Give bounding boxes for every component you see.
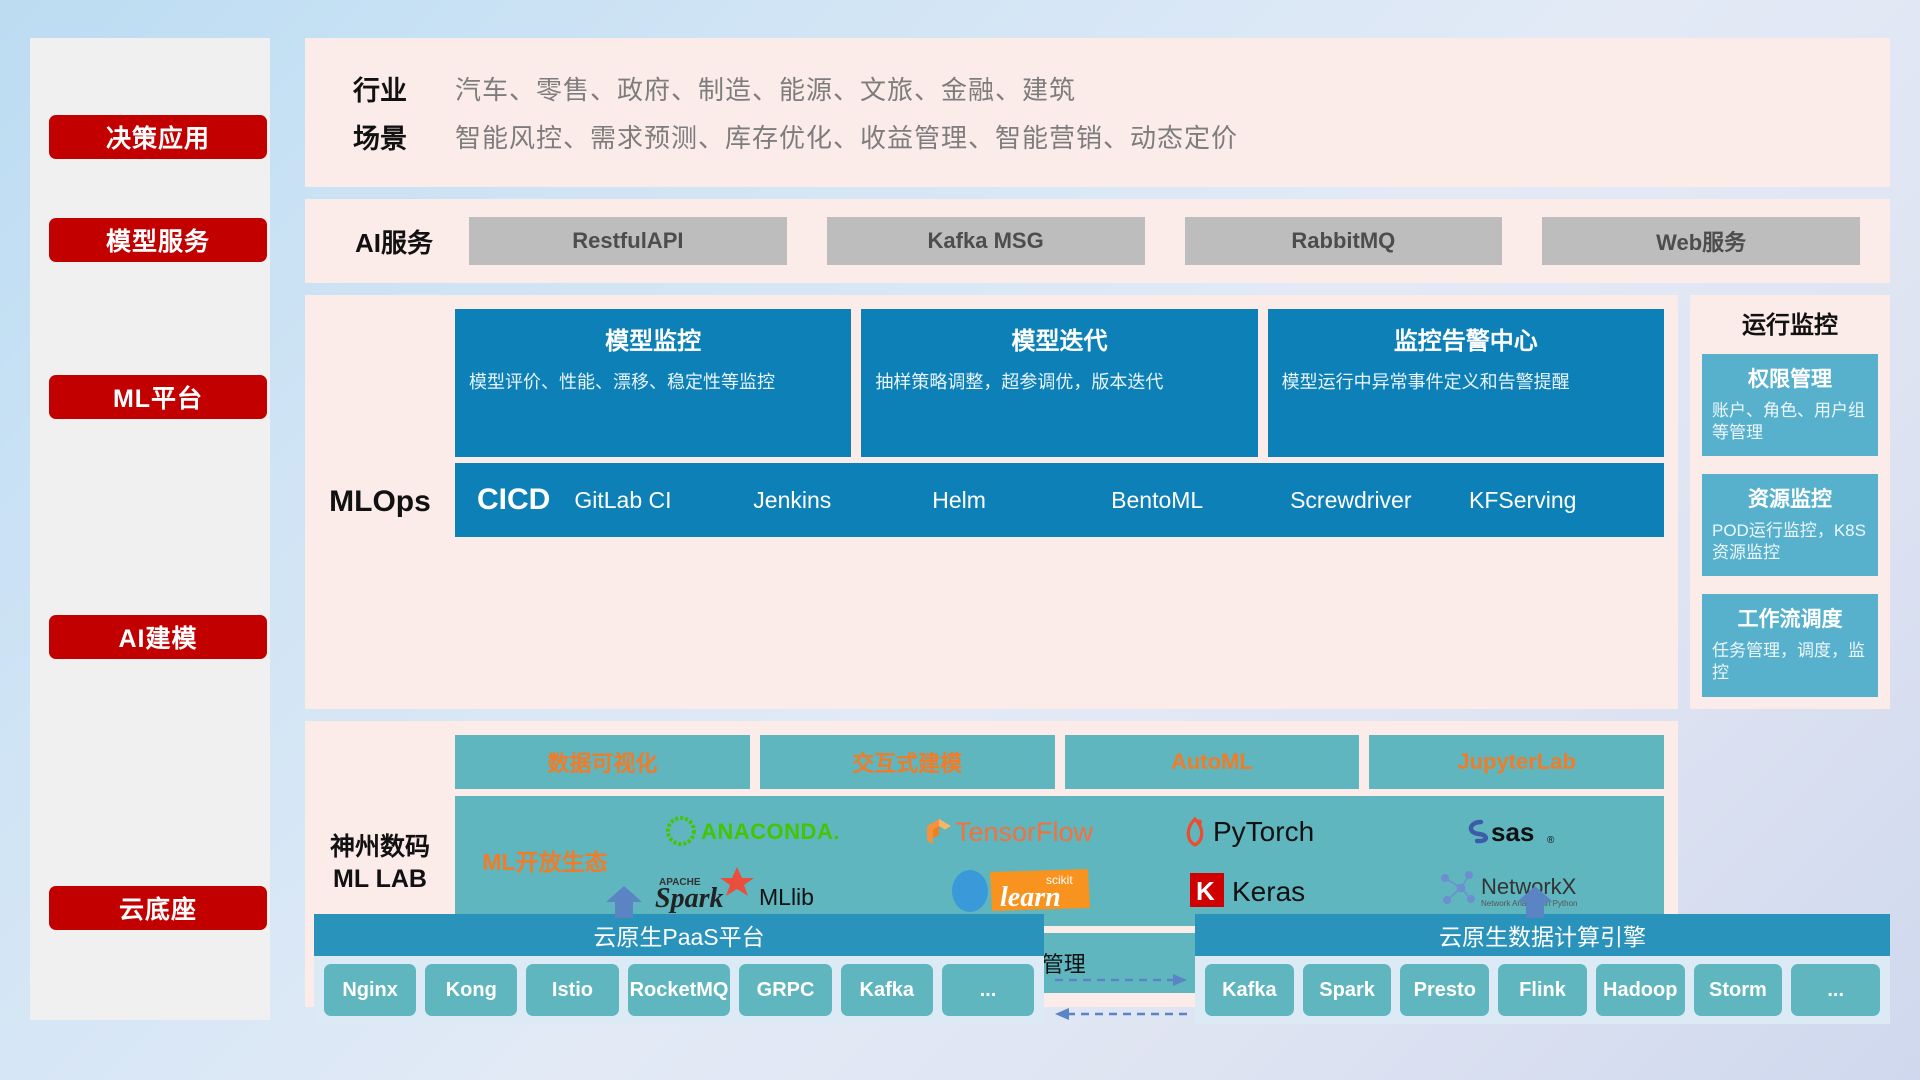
svg-text:sas: sas [1491,817,1534,847]
chip-kong[interactable]: Kong [425,964,517,1016]
cicd-title: CICD [477,483,568,517]
tensorflow-logo-icon: TensorFlow [892,804,1149,858]
mlops-card-model-iteration[interactable]: 模型迭代 抽样策略调整，超参调优，版本迭代 [861,309,1257,457]
tool-row: 数据可视化 交互式建模 AutoML JupyterLab [455,735,1664,789]
card-desc: 模型运行中异常事件定义和告警提醒 [1282,370,1650,394]
ai-service-boxes: RestfulAPI Kafka MSG RabbitMQ Web服务 [469,217,1876,265]
mlops-card-list: 模型监控 模型评价、性能、漂移、稳定性等监控 模型迭代 抽样策略调整，超参调优，… [455,309,1664,457]
compute-engine-title: 云原生数据计算引擎 [1195,914,1890,956]
chip-hadoop[interactable]: Hadoop [1596,964,1685,1016]
ai-service-band: AI服务 RestfulAPI Kafka MSG RabbitMQ Web服务 [305,199,1890,283]
mlops-panel: MLOps 模型监控 模型评价、性能、漂移、稳定性等监控 模型迭代 抽样策略调整… [305,295,1678,709]
card-desc: 账户、角色、用户组等管理 [1712,400,1868,444]
chip-grpc[interactable]: GRPC [739,964,831,1016]
industry-values: 汽车、零售、政府、制造、能源、文旅、金融、建筑 [455,70,1076,107]
tool-interactive-modeling[interactable]: 交互式建模 [760,735,1055,789]
chip-spark[interactable]: Spark [1303,964,1392,1016]
mlops-card-model-monitoring[interactable]: 模型监控 模型评价、性能、漂移、稳定性等监控 [455,309,851,457]
chip-kafka[interactable]: Kafka [841,964,933,1016]
svg-text:PyTorch: PyTorch [1213,816,1314,847]
card-title: 模型迭代 [875,321,1243,356]
chip-flink[interactable]: Flink [1498,964,1587,1016]
paas-title: 云原生PaaS平台 [314,914,1044,956]
scenario-values: 智能风控、需求预测、库存优化、收益管理、智能营销、动态定价 [455,118,1238,155]
compute-chip-list: Kafka Spark Presto Flink Hadoop Storm ..… [1195,956,1890,1024]
decision-application-band: 行业 汽车、零售、政府、制造、能源、文旅、金融、建筑 场景 智能风控、需求预测、… [305,38,1890,187]
tool-data-visualization[interactable]: 数据可视化 [455,735,750,789]
tool-jupyterlab[interactable]: JupyterLab [1369,735,1664,789]
compute-engine-group: 云原生数据计算引擎 Kafka Spark Presto Flink Hadoo… [1195,914,1890,1024]
run-monitor-panel: 运行监控 权限管理 账户、角色、用户组等管理 资源监控 POD运行监控，K8S资… [1690,295,1890,709]
cloud-base-section: 云原生PaaS平台 Nginx Kong Istio RocketMQ GRPC… [305,886,1890,1051]
card-title: 权限管理 [1712,363,1868,393]
svg-text:TensorFlow: TensorFlow [955,817,1094,847]
chip-more-paas[interactable]: ... [942,964,1034,1016]
chip-storm[interactable]: Storm [1694,964,1783,1016]
industry-label: 行业 [305,69,455,108]
stage-chip-ai-modeling[interactable]: AI建模 [49,615,267,659]
run-monitor-title: 运行监控 [1702,305,1878,340]
card-desc: 抽样策略调整，超参调优，版本迭代 [875,370,1243,394]
pytorch-logo-icon: PyTorch [1150,804,1407,858]
stage-chip-cloud-base[interactable]: 云底座 [49,886,267,930]
svg-text:®: ® [1547,835,1555,846]
card-title: 工作流调度 [1712,603,1868,633]
card-desc: POD运行监控，K8S资源监控 [1712,520,1868,564]
scenario-label: 场景 [305,117,455,156]
stage-chip-model-service[interactable]: 模型服务 [49,218,267,262]
cicd-item-helm[interactable]: Helm [932,488,1105,512]
tool-automl[interactable]: AutoML [1065,735,1360,789]
chip-more-compute[interactable]: ... [1791,964,1880,1016]
cicd-item-bentoml[interactable]: BentoML [1111,488,1284,512]
service-box-rabbitmq[interactable]: RabbitMQ [1185,217,1503,265]
industry-row: 行业 汽车、零售、政府、制造、能源、文旅、金融、建筑 [305,69,1890,108]
service-box-kafka-msg[interactable]: Kafka MSG [827,217,1145,265]
up-arrow-icon-paas [602,886,646,918]
card-title: 监控告警中心 [1282,321,1650,356]
service-box-restfulapi[interactable]: RestfulAPI [469,217,787,265]
chip-rocketmq[interactable]: RocketMQ [628,964,731,1016]
card-desc: 模型评价、性能、漂移、稳定性等监控 [469,370,837,394]
cicd-item-kfserving[interactable]: KFServing [1469,488,1642,512]
chip-presto[interactable]: Presto [1400,964,1489,1016]
ml-lab-label-line1: 神州数码 [330,833,430,861]
card-desc: 任务管理，调度，监控 [1712,640,1868,684]
stage-chip-ml-platform[interactable]: ML平台 [49,375,267,419]
stage-chip-decision[interactable]: 决策应用 [49,115,267,159]
anaconda-logo-icon: ANACONDA. [635,804,892,858]
ai-service-label: AI服务 [319,223,469,260]
service-box-web[interactable]: Web服务 [1542,217,1860,265]
monitor-card-resource[interactable]: 资源监控 POD运行监控，K8S资源监控 [1702,474,1878,576]
scenario-row: 场景 智能风控、需求预测、库存优化、收益管理、智能营销、动态定价 [305,117,1890,156]
content-column: 行业 汽车、零售、政府、制造、能源、文旅、金融、建筑 场景 智能风控、需求预测、… [305,38,1890,1007]
chip-istio[interactable]: Istio [526,964,618,1016]
bidirectional-connector-icon [1053,966,1189,1026]
cicd-bar: CICD GitLab CI Jenkins Helm BentoML Scre… [455,463,1664,537]
paas-chip-list: Nginx Kong Istio RocketMQ GRPC Kafka ... [314,956,1044,1024]
mlops-card-alert-center[interactable]: 监控告警中心 模型运行中异常事件定义和告警提醒 [1268,309,1664,457]
cicd-item-jenkins[interactable]: Jenkins [753,488,926,512]
up-arrow-icon-compute [1513,886,1557,918]
ml-platform-band: MLOps 模型监控 模型评价、性能、漂移、稳定性等监控 模型迭代 抽样策略调整… [305,295,1890,709]
architecture-diagram: 决策应用 模型服务 ML平台 AI建模 云底座 行业 汽车、零售、政府、制造、能… [0,0,1920,1080]
stage-rail: 决策应用 模型服务 ML平台 AI建模 云底座 [30,38,270,1020]
monitor-card-permission[interactable]: 权限管理 账户、角色、用户组等管理 [1702,354,1878,456]
paas-group: 云原生PaaS平台 Nginx Kong Istio RocketMQ GRPC… [314,914,1044,1024]
card-title: 资源监控 [1712,483,1868,513]
cicd-item-screwdriver[interactable]: Screwdriver [1290,488,1463,512]
card-title: 模型监控 [469,321,837,356]
mlops-label: MLOps [305,309,455,695]
sas-logo-icon: sas ® [1407,804,1664,858]
chip-nginx[interactable]: Nginx [324,964,416,1016]
svg-text:ANACONDA.: ANACONDA. [701,819,840,844]
cicd-item-gitlab[interactable]: GitLab CI [574,488,747,512]
chip-kafka-compute[interactable]: Kafka [1205,964,1294,1016]
monitor-card-workflow[interactable]: 工作流调度 任务管理，调度，监控 [1702,594,1878,696]
